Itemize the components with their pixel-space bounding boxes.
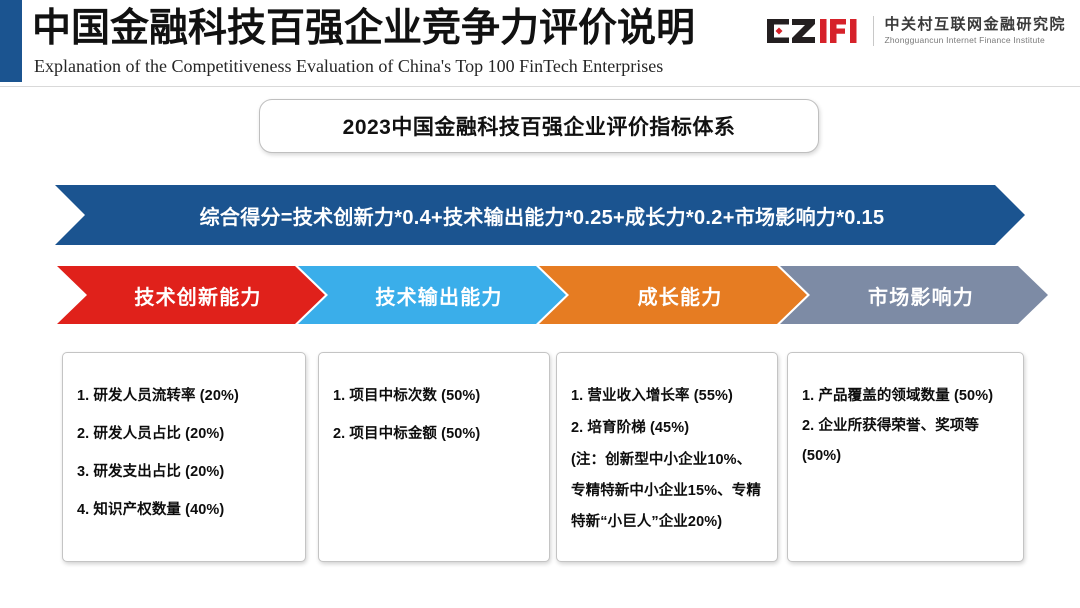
detail-item: 1. 产品覆盖的领域数量 (50%) xyxy=(802,381,1009,411)
logo-english-name: Zhongguancun Internet Finance Institute xyxy=(884,34,1066,46)
dimension-label: 市场影响力 xyxy=(868,281,974,310)
detail-item: 2. 企业所获得荣誉、奖项等 (50%) xyxy=(802,411,1009,471)
page-title: 中国金融科技百强企业竞争力评价说明 xyxy=(32,6,695,52)
detail-item: 1. 研发人员流转率 (20%) xyxy=(77,381,291,411)
detail-item: 1. 营业收入增长率 (55%) xyxy=(571,381,763,411)
detail-box-market-influence: 1. 产品覆盖的领域数量 (50%) 2. 企业所获得荣誉、奖项等 (50%) xyxy=(787,352,1024,562)
dimension-label: 成长能力 xyxy=(638,281,723,310)
logo-chinese-name: 中关村互联网金融研究院 xyxy=(884,16,1066,34)
czifi-logo-icon xyxy=(765,18,861,44)
detail-box-growth: 1. 营业收入增长率 (55%) 2. 培育阶梯 (45%) (注：创新型中小企… xyxy=(556,352,778,562)
dimension-chevron-tech-innovation[interactable]: 技术创新能力 xyxy=(57,266,325,324)
header-divider xyxy=(0,86,1080,87)
detail-item: 2. 研发人员占比 (20%) xyxy=(77,419,291,449)
dimension-chevron-market-influence[interactable]: 市场影响力 xyxy=(780,266,1048,324)
detail-item: 2. 项目中标金额 (50%) xyxy=(333,419,535,449)
dimension-chevron-row: 技术创新能力 技术输出能力 成长能力 市场影响力 xyxy=(0,266,1080,324)
dimension-chevron-tech-output[interactable]: 技术输出能力 xyxy=(298,266,566,324)
page-subtitle: Explanation of the Competitiveness Evalu… xyxy=(34,56,663,77)
institute-logo: 中关村互联网金融研究院 Zhongguancun Internet Financ… xyxy=(765,11,1066,51)
indicator-system-title: 2023中国金融科技百强企业评价指标体系 xyxy=(343,111,736,141)
page-header: 中国金融科技百强企业竞争力评价说明 Explanation of the Com… xyxy=(0,0,1080,88)
dimension-label: 技术输出能力 xyxy=(375,281,502,310)
header-accent-bar xyxy=(0,0,22,82)
detail-box-tech-output: 1. 项目中标次数 (50%) 2. 项目中标金额 (50%) xyxy=(318,352,550,562)
detail-item: 2. 培育阶梯 (45%) xyxy=(571,413,763,443)
score-formula-text: 综合得分=技术创新力*0.4+技术输出能力*0.25+成长力*0.2+市场影响力… xyxy=(200,201,885,230)
logo-text-block: 中关村互联网金融研究院 Zhongguancun Internet Financ… xyxy=(884,16,1066,46)
detail-item: 4. 知识产权数量 (40%) xyxy=(77,495,291,525)
detail-note: (注：创新型中小企业10%、专精特新中小企业15%、专精特新“小巨人”企业20%… xyxy=(571,445,763,538)
score-formula-banner: 综合得分=技术创新力*0.4+技术输出能力*0.25+成长力*0.2+市场影响力… xyxy=(55,185,1025,245)
indicator-system-title-box: 2023中国金融科技百强企业评价指标体系 xyxy=(259,99,819,153)
detail-item: 1. 项目中标次数 (50%) xyxy=(333,381,535,411)
dimension-label: 技术创新能力 xyxy=(134,281,261,310)
dimension-chevron-growth[interactable]: 成长能力 xyxy=(539,266,807,324)
logo-divider xyxy=(873,16,874,46)
detail-box-tech-innovation: 1. 研发人员流转率 (20%) 2. 研发人员占比 (20%) 3. 研发支出… xyxy=(62,352,306,562)
detail-item: 3. 研发支出占比 (20%) xyxy=(77,457,291,487)
